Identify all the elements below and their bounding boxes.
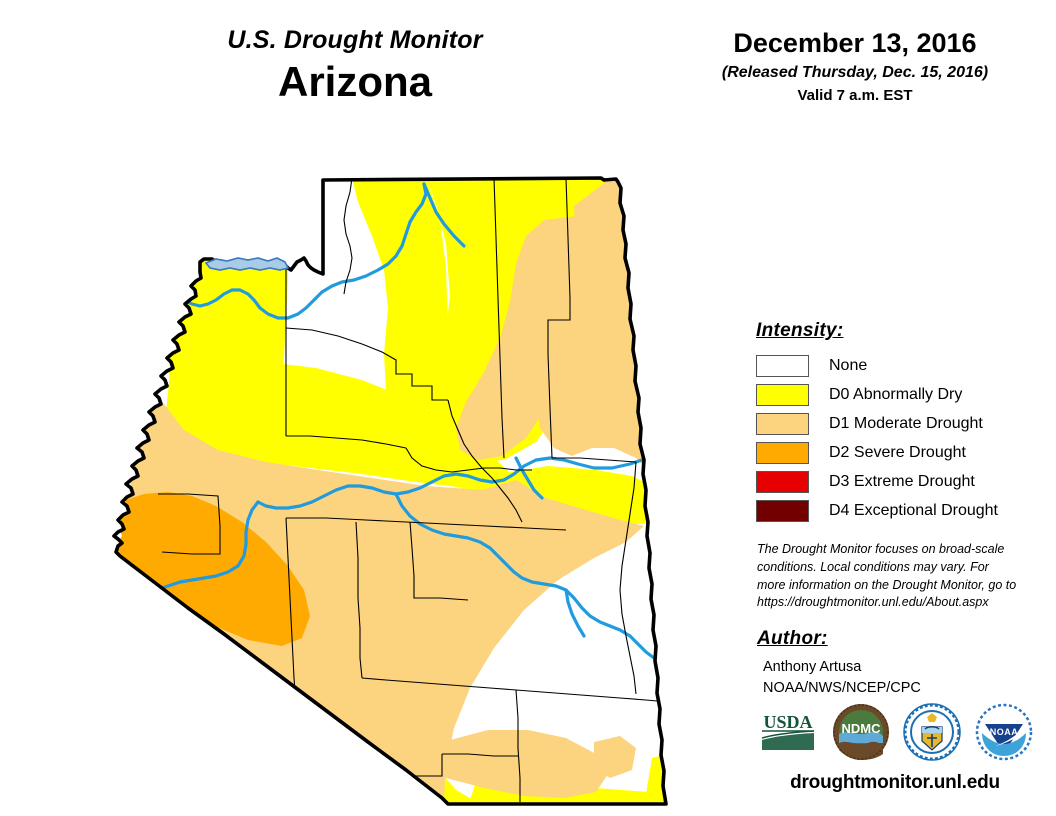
legend-label-d2: D2 Severe Drought	[829, 444, 966, 462]
legend-swatch-none	[756, 355, 809, 377]
lake-mead	[206, 258, 288, 270]
legend-label-d3: D3 Extreme Drought	[829, 473, 975, 491]
footer-url[interactable]: droughtmonitor.unl.edu	[740, 772, 1050, 794]
legend-label-d4: D4 Exceptional Drought	[829, 502, 998, 520]
legend-title: Intensity:	[756, 320, 1026, 342]
legend-item-d0[interactable]: D0 Abnormally Dry	[756, 380, 1026, 409]
svg-text:USDA: USDA	[763, 712, 812, 732]
author-title: Author:	[757, 628, 1019, 650]
legend-item-d3[interactable]: D3 Extreme Drought	[756, 467, 1026, 496]
legend-label-d1: D1 Moderate Drought	[829, 415, 983, 433]
valid-time: Valid 7 a.m. EST	[690, 86, 1020, 106]
region-d0-northwest	[180, 172, 248, 268]
usda-seal-logo[interactable]	[903, 703, 961, 761]
usda-logo[interactable]: USDA	[758, 709, 818, 755]
svg-text:NOAA: NOAA	[990, 727, 1019, 737]
author-affiliation: NOAA/NWS/NCEP/CPC	[763, 678, 1019, 699]
legend-swatch-d3	[756, 471, 809, 493]
ndmc-logo[interactable]: NDMC	[832, 703, 890, 761]
legend-swatch-d4	[756, 500, 809, 522]
legend-item-d2[interactable]: D2 Severe Drought	[756, 438, 1026, 467]
disclaimer-text: The Drought Monitor focuses on broad-sca…	[757, 541, 1019, 612]
page-title-main: U.S. Drought Monitor	[120, 26, 590, 55]
map-date: December 13, 2016	[690, 28, 1020, 60]
legend-label-d0: D0 Abnormally Dry	[829, 386, 962, 404]
legend-item-d1[interactable]: D1 Moderate Drought	[756, 409, 1026, 438]
author-block: Author: Anthony Artusa NOAA/NWS/NCEP/CPC	[757, 628, 1019, 698]
legend-swatch-d2	[756, 442, 809, 464]
page-title-state: Arizona	[120, 57, 590, 107]
svg-text:NDMC: NDMC	[841, 721, 881, 736]
logo-row: USDA NDMC NOAA	[758, 700, 1033, 764]
title-block: U.S. Drought Monitor Arizona	[120, 26, 590, 107]
date-block: December 13, 2016 (Released Thursday, De…	[690, 28, 1020, 107]
legend-item-d4[interactable]: D4 Exceptional Drought	[756, 496, 1026, 525]
arizona-drought-map[interactable]	[96, 158, 686, 808]
legend-item-none[interactable]: None	[756, 351, 1026, 380]
legend: Intensity: None D0 Abnormally Dry D1 Mod…	[756, 320, 1026, 525]
map-drought-fills	[96, 158, 686, 808]
release-date: (Released Thursday, Dec. 15, 2016)	[690, 62, 1020, 84]
legend-swatch-d1	[756, 413, 809, 435]
legend-label-none: None	[829, 357, 867, 375]
noaa-logo[interactable]: NOAA	[975, 703, 1033, 761]
legend-swatch-d0	[756, 384, 809, 406]
author-name: Anthony Artusa	[763, 657, 1019, 678]
